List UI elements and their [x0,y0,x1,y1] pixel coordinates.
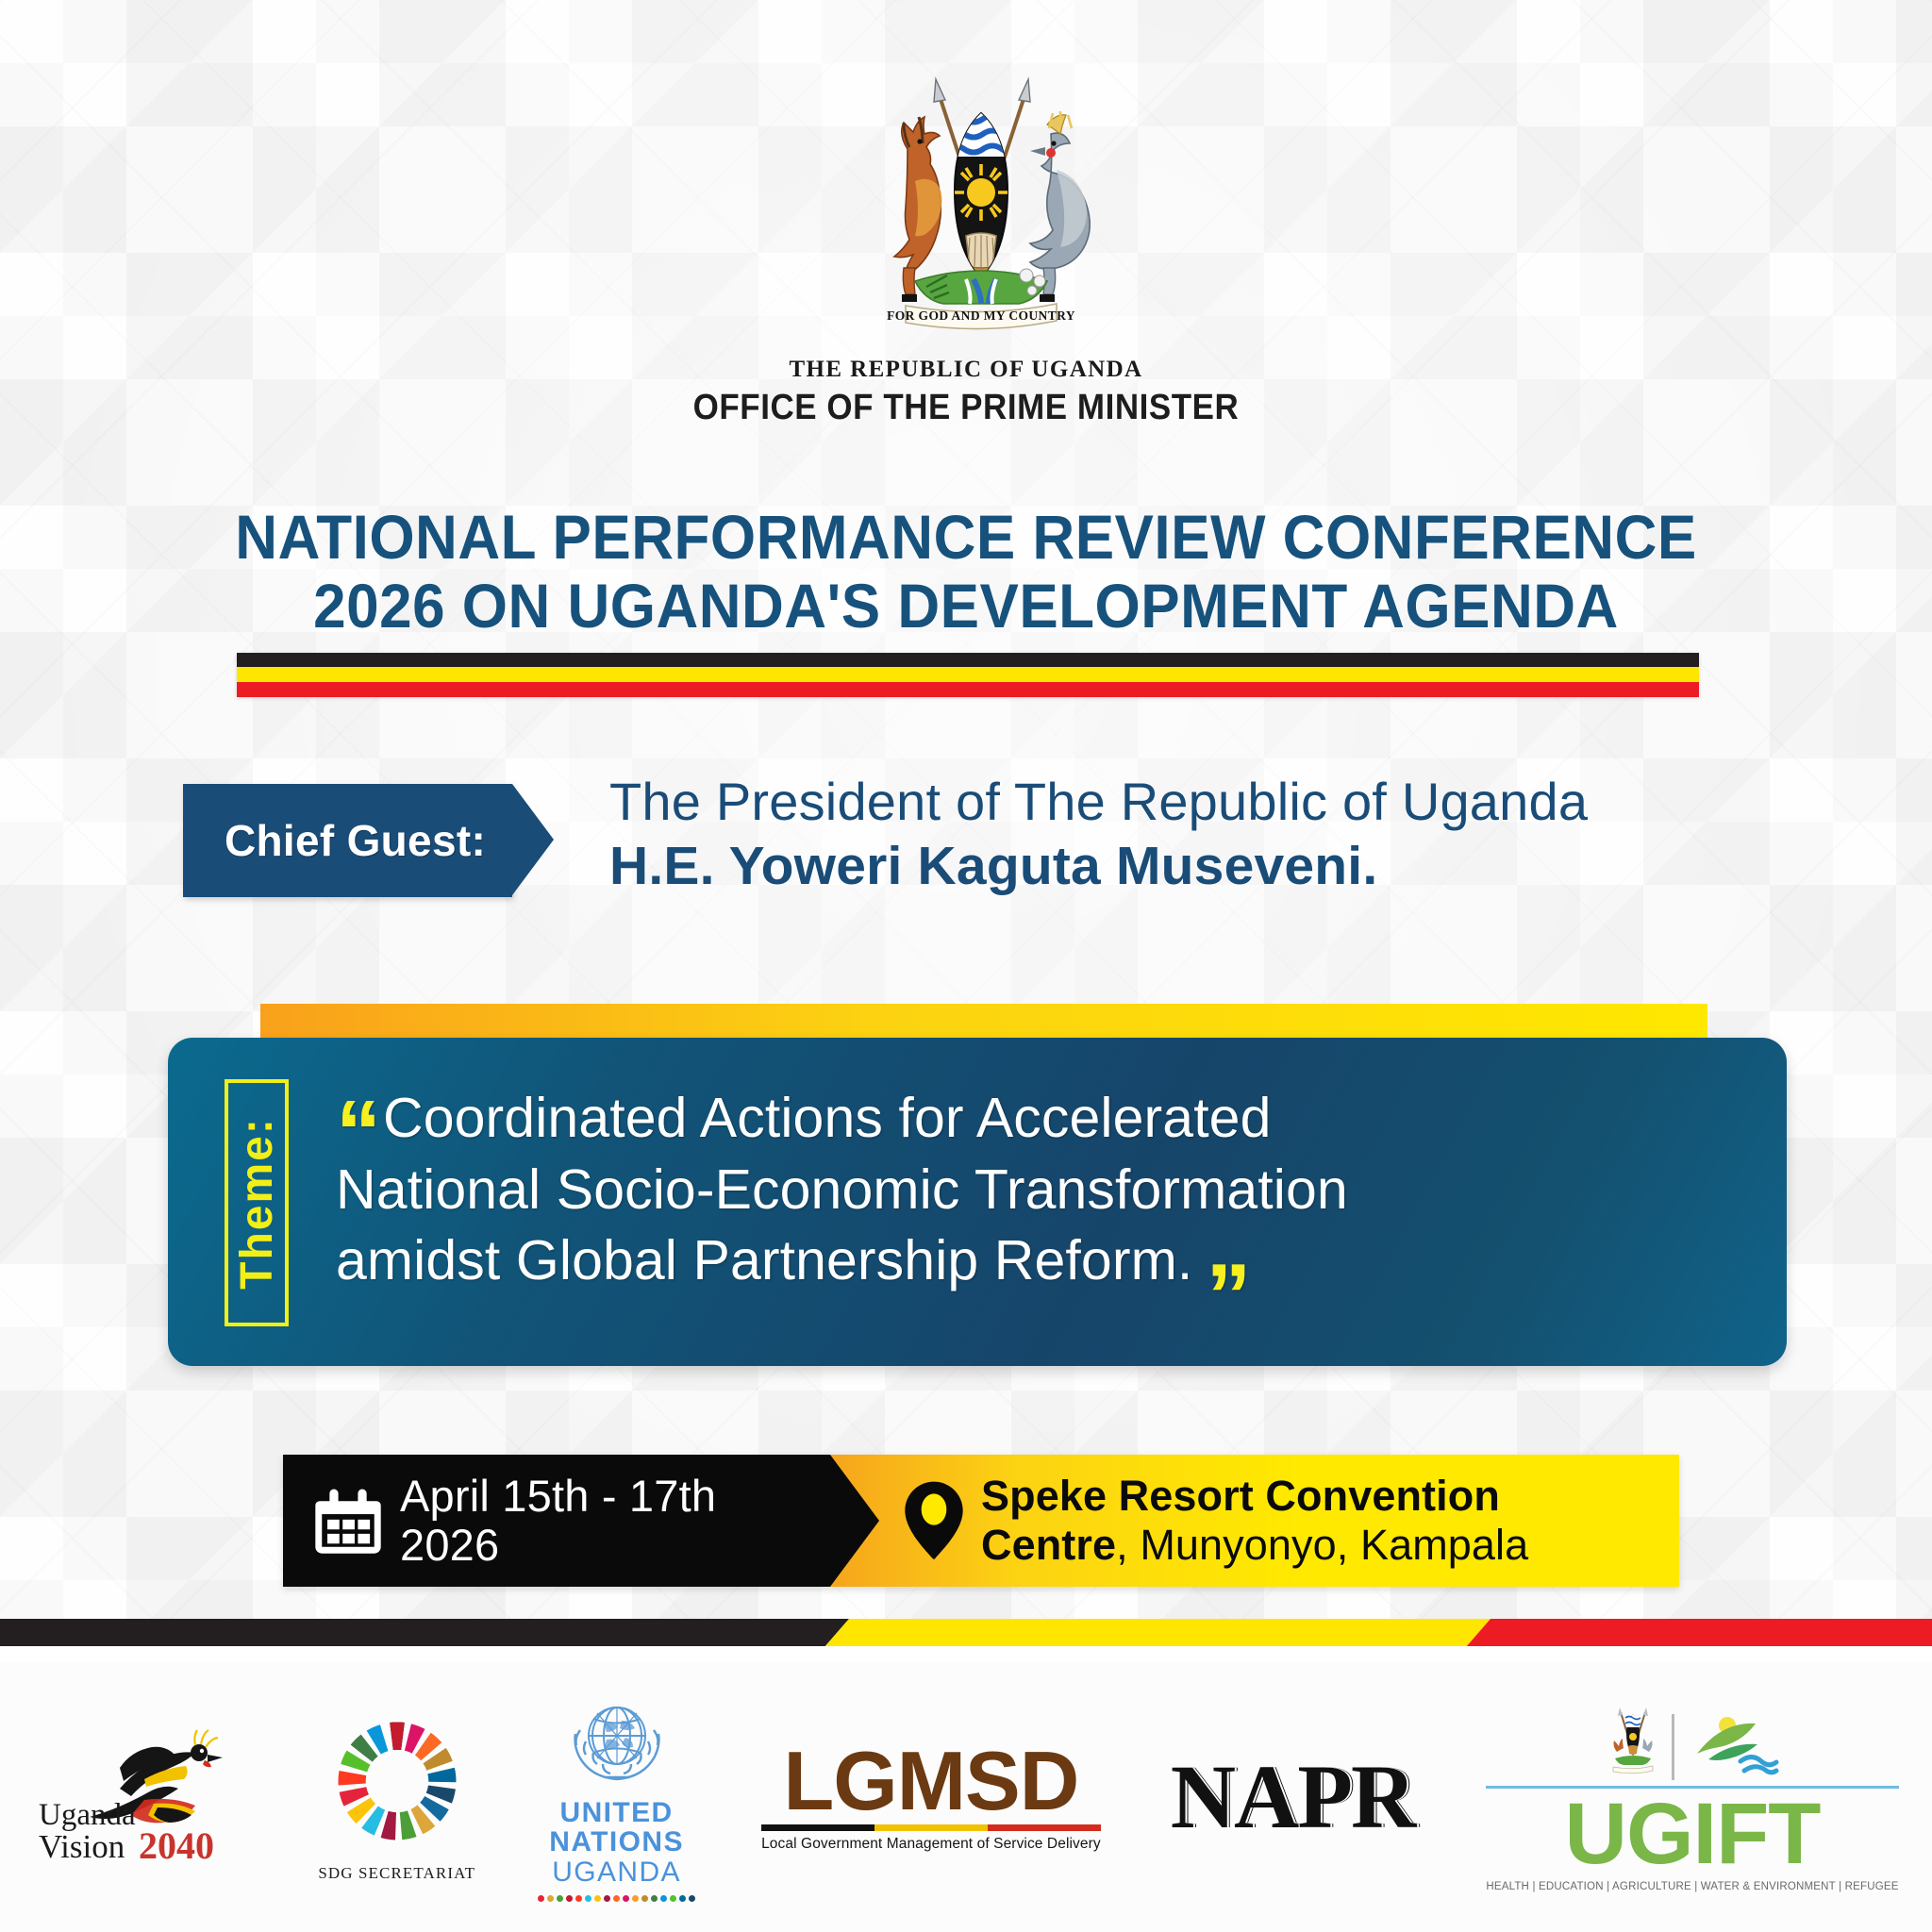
venue-location: , Munyonyo, Kampala [1116,1521,1528,1569]
theme-card: Theme: “Coordinated Actions for Accelera… [168,1038,1787,1366]
ugift-divider [1672,1714,1674,1780]
event-details-bar: April 15th - 17th 2026 Speke Resort Conv… [283,1455,1679,1587]
sdg-wheel-icon [335,1711,459,1855]
ugift-subtitle: HEALTH | EDUCATION | AGRICULTURE | WATER… [1486,1881,1898,1892]
sdg-caption: SDG SECRETARIAT [318,1864,475,1883]
chief-guest-section: Chief Guest: The President of The Republ… [183,784,512,897]
logo-uganda-vision-2040: Uganda Vision 2040 [33,1726,250,1868]
band-red [1453,1619,1932,1646]
logo-united-nations-uganda: UNITED NATIONS UGANDA [538,1692,695,1902]
uganda-flag-divider [237,653,1699,697]
lgmsd-subtitle: Local Government Management of Service D… [761,1836,1101,1853]
ugift-coat-of-arms-icon [1606,1705,1660,1780]
ugift-wordmark: UGIFT [1565,1790,1821,1877]
title-line-2: 2026 ON UGANDA'S DEVELOPMENT AGENDA [164,572,1768,641]
event-venue: Speke Resort Convention Centre, Munyonyo… [981,1472,1528,1570]
venue-name-line-1: Speke Resort Convention [981,1472,1500,1520]
un-emblem-icon [558,1692,676,1790]
chief-guest-title: The President of The Republic of Uganda [609,770,1892,834]
location-pin-icon [904,1480,964,1561]
flag-stripe-black [237,653,1699,667]
chief-guest-details: The President of The Republic of Uganda … [609,770,1892,900]
vision-word-1: Uganda [39,1798,136,1832]
un-line-2: NATIONS [549,1827,684,1857]
partner-logo-strip: Uganda Vision 2040 [0,1662,1932,1932]
logo-ugift: UGIFT HEALTH | EDUCATION | AGRICULTURE |… [1486,1703,1898,1892]
svg-text:FOR GOD AND MY COUNTRY: FOR GOD AND MY COUNTRY [887,308,1075,323]
un-line-1: UNITED [549,1798,684,1827]
theme-text: “Coordinated Actions for Accelerated Nat… [336,1083,1740,1297]
bottom-diagonal-band [0,1619,1932,1646]
lgmsd-flag-rule [761,1824,1101,1831]
band-yellow [811,1619,1491,1646]
vision-word-2: Vision [39,1828,125,1865]
un-sdg-dots [538,1895,695,1902]
ugift-leaf-water-icon [1686,1710,1780,1780]
event-date-block: April 15th - 17th 2026 [283,1455,830,1587]
theme-line-3: amidst Global Partnership Reform. [336,1229,1192,1291]
event-date-line-2: 2026 [400,1520,499,1570]
poster-canvas: FOR GOD AND MY COUNTRY THE REPUBLIC OF U… [0,0,1932,1646]
title-line-1: NATIONAL PERFORMANCE REVIEW CONFERENCE [164,503,1768,572]
uganda-coat-of-arms-icon: FOR GOD AND MY COUNTRY [824,58,1108,341]
event-date-line-1: April 15th - 17th [400,1471,716,1521]
calendar-icon [313,1486,383,1556]
chief-guest-label: Chief Guest: [183,784,512,897]
ugift-top-marks [1606,1703,1780,1780]
band-black [0,1619,849,1646]
theme-line-1: Coordinated Actions for Accelerated [383,1087,1272,1149]
theme-label: Theme: [231,1117,283,1290]
logo-napr: NAPR [1171,1752,1415,1842]
republic-line: THE REPUBLIC OF UGANDA [0,357,1932,383]
flag-stripe-red [237,682,1699,697]
page-title: NATIONAL PERFORMANCE REVIEW CONFERENCE 2… [164,503,1768,640]
venue-name-line-2: Centre [981,1521,1116,1569]
event-venue-block: Speke Resort Convention Centre, Munyonyo… [830,1455,1679,1587]
office-line: OFFICE OF THE PRIME MINISTER [77,388,1855,428]
theme-body: “Coordinated Actions for Accelerated Nat… [336,1083,1740,1297]
chief-guest-name: H.E. Yoweri Kaguta Museveni. [609,834,1892,900]
logo-lgmsd: LGMSD Local Government Management of Ser… [761,1741,1101,1853]
theme-accent-bar [260,1004,1707,1038]
napr-wordmark: NAPR [1171,1752,1415,1842]
theme-line-2: National Socio-Economic Transformation [336,1158,1348,1221]
event-date: April 15th - 17th 2026 [400,1472,716,1569]
logo-sdg-secretariat: SDG SECRETARIAT [318,1711,475,1883]
un-line-3: UGANDA [549,1857,684,1887]
vision-year: 2040 [139,1824,214,1867]
theme-label-box: Theme: [225,1079,289,1326]
lgmsd-wordmark: LGMSD [784,1741,1079,1821]
flag-stripe-yellow [237,667,1699,682]
un-wordmark: UNITED NATIONS UGANDA [549,1798,684,1887]
